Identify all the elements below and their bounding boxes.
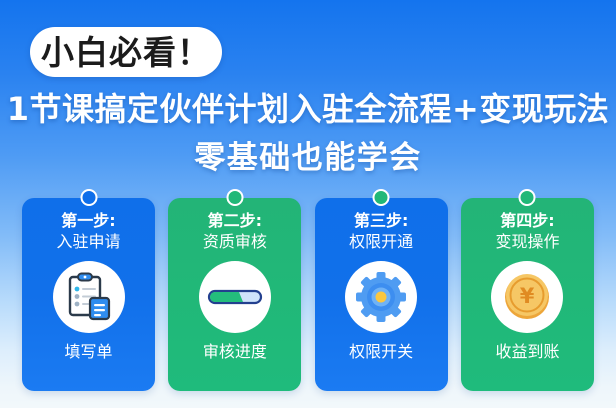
step-dot-icon [226, 189, 243, 206]
page-subtitle: 零基础也能学会 [0, 141, 616, 176]
headline-badge: 小白必看！ [30, 27, 222, 77]
page-title: 1节课搞定伙伴计划入驻全流程+变现玩法 [0, 92, 616, 128]
step-dot-icon [519, 189, 536, 206]
step-dot-icon [373, 189, 390, 206]
step-card-1-title: 入驻申请 [56, 232, 120, 253]
step-card-1-step: 第一步: [61, 211, 115, 231]
step-card-4-caption: 收益到账 [495, 342, 559, 361]
svg-text:¥: ¥ [520, 284, 535, 308]
badge-label: 小白必看！ [41, 36, 211, 69]
step-card-1[interactable]: 第一步: 入驻申请 [22, 198, 155, 391]
clipboard-checklist-icon [53, 261, 125, 333]
step-card-2-step: 第二步: [208, 211, 262, 231]
step-card-4-title: 变现操作 [495, 232, 559, 253]
progress-bar-icon [199, 261, 271, 333]
step-card-2[interactable]: 第二步: 资质审核 审核进度 [168, 198, 301, 391]
step-card-3-caption: 权限开关 [349, 342, 413, 361]
step-card-4-step: 第四步: [500, 211, 554, 231]
step-card-3-title: 权限开通 [349, 232, 413, 253]
step-card-3[interactable]: 第三步: 权限开通 [315, 198, 448, 391]
steps-row: 第一步: 入驻申请 [22, 198, 594, 394]
step-card-2-caption: 审核进度 [203, 342, 267, 361]
step-card-3-step: 第三步: [354, 211, 408, 231]
step-card-4[interactable]: 第四步: 变现操作 ¥ 收益到账 [461, 198, 594, 391]
gear-icon [345, 261, 417, 333]
step-card-1-caption: 填写单 [64, 342, 112, 361]
yen-coin-icon: ¥ [491, 261, 563, 333]
step-dot-icon [80, 189, 97, 206]
promo-poster: 小白必看！ 1节课搞定伙伴计划入驻全流程+变现玩法 零基础也能学会 第一步: 入… [0, 0, 616, 408]
step-card-2-title: 资质审核 [203, 232, 267, 253]
